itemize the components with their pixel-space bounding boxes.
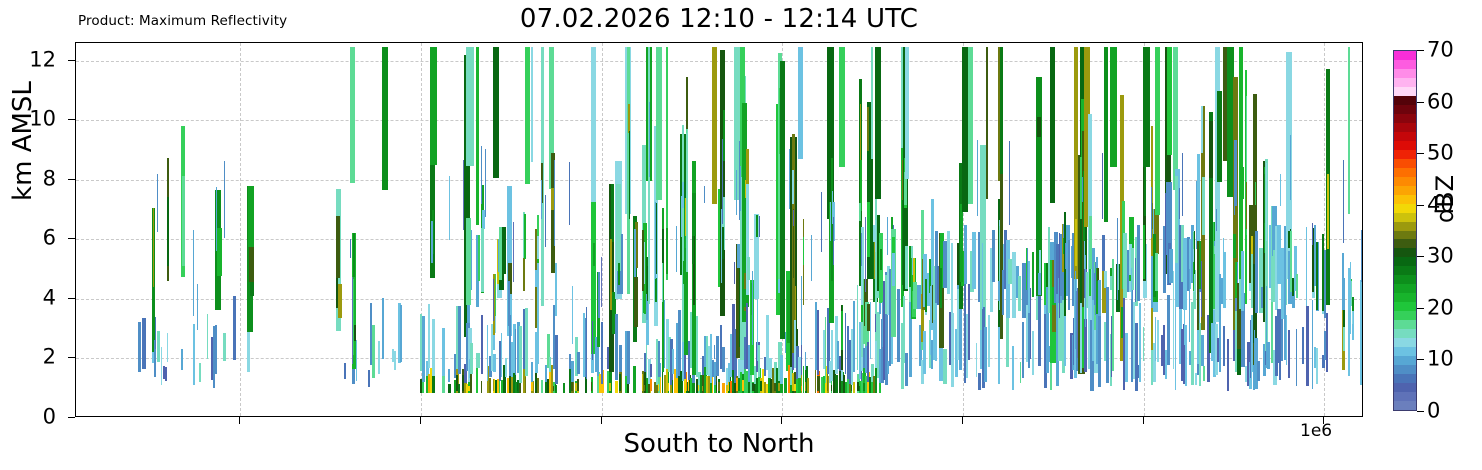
reflectivity-cell — [224, 161, 225, 238]
reflectivity-cell — [215, 325, 217, 374]
reflectivity-cell — [598, 272, 599, 317]
reflectivity-cell — [577, 352, 580, 374]
reflectivity-cell — [880, 249, 883, 270]
reflectivity-cell — [1175, 176, 1178, 264]
reflectivity-cell — [1102, 153, 1103, 219]
reflectivity-cell — [356, 340, 358, 381]
reflectivity-cell — [627, 331, 630, 384]
colorbar-segment — [1394, 158, 1416, 168]
x-tick-mark — [781, 417, 782, 424]
reflectivity-cell — [984, 327, 987, 382]
colorbar-segment — [1394, 185, 1416, 195]
colorbar-segment — [1394, 194, 1416, 204]
reflectivity-cell — [1143, 225, 1145, 279]
reflectivity-cell — [431, 221, 433, 263]
reflectivity-cell — [1082, 177, 1083, 202]
colorbar-segment — [1394, 400, 1416, 410]
reflectivity-cell — [1316, 348, 1318, 385]
reflectivity-cell — [835, 375, 838, 393]
reflectivity-cell — [1326, 313, 1328, 372]
reflectivity-cell — [1361, 230, 1362, 282]
reflectivity-cell — [577, 379, 579, 391]
reflectivity-cell — [1012, 346, 1014, 389]
reflectivity-cell — [718, 382, 720, 391]
reflectivity-cell — [811, 235, 812, 281]
reflectivity-cell — [616, 184, 621, 271]
reflectivity-cell — [197, 284, 198, 330]
x-tick-mark — [962, 417, 963, 424]
reflectivity-cell — [1009, 141, 1010, 226]
reflectivity-cell — [556, 263, 557, 294]
reflectivity-cell — [923, 331, 926, 374]
colorbar-segment — [1394, 77, 1416, 87]
reflectivity-cell — [1104, 47, 1107, 222]
reflectivity-cell — [609, 383, 610, 391]
reflectivity-cell — [138, 322, 141, 373]
y-tick-label: 4 — [43, 287, 56, 308]
reflectivity-cell — [1112, 259, 1114, 371]
reflectivity-cell — [505, 358, 507, 377]
colorbar-segment — [1394, 257, 1416, 267]
colorbar-tick-label: 70 — [1427, 40, 1454, 61]
reflectivity-cell — [563, 383, 564, 393]
colorbar-tick-mark — [1417, 411, 1424, 412]
reflectivity-cell — [951, 313, 953, 388]
reflectivity-cell — [618, 263, 621, 285]
reflectivity-cell — [992, 230, 995, 282]
reflectivity-cell — [634, 277, 637, 327]
reflectivity-cell — [736, 170, 737, 215]
reflectivity-cell — [1179, 188, 1180, 218]
reflectivity-cell — [805, 352, 807, 370]
reflectivity-cell — [519, 326, 522, 383]
reflectivity-cell — [1223, 238, 1224, 276]
reflectivity-cell — [615, 381, 618, 393]
reflectivity-cell — [1167, 295, 1171, 365]
reflectivity-cell — [1182, 153, 1183, 216]
reflectivity-cell — [633, 366, 635, 392]
x-tick-mark — [601, 417, 602, 424]
reflectivity-cell — [167, 333, 169, 362]
reflectivity-cell — [986, 47, 988, 198]
reflectivity-cell — [1110, 47, 1116, 166]
colorbar-segment — [1394, 95, 1416, 105]
reflectivity-cell — [870, 302, 871, 360]
reflectivity-cell — [1202, 177, 1205, 235]
reflectivity-cell — [531, 362, 533, 382]
reflectivity-cell — [756, 215, 758, 237]
reflectivity-cell — [382, 47, 389, 190]
reflectivity-cell — [216, 187, 217, 252]
reflectivity-cell — [493, 354, 496, 372]
colorbar-segment — [1394, 302, 1416, 312]
reflectivity-cell — [859, 203, 861, 220]
reflectivity-cell — [554, 160, 555, 246]
reflectivity-cell — [968, 47, 973, 203]
reflectivity-cell — [678, 310, 681, 376]
reflectivity-cell — [525, 308, 528, 375]
reflectivity-cell — [1068, 240, 1070, 310]
colorbar-segment — [1394, 284, 1416, 294]
reflectivity-cell — [1143, 47, 1150, 166]
reflectivity-cell — [448, 384, 451, 393]
reflectivity-cell — [780, 355, 783, 384]
reflectivity-cell — [470, 343, 473, 374]
reflectivity-cell — [629, 131, 630, 220]
reflectivity-cell — [350, 47, 355, 182]
reflectivity-cell — [1037, 117, 1041, 136]
colorbar-segment — [1394, 239, 1416, 249]
reflectivity-cell — [541, 180, 542, 220]
y-tick-mark — [68, 357, 75, 358]
colorbar-segment — [1394, 50, 1416, 60]
colorbar-segment — [1394, 248, 1416, 258]
reflectivity-cell — [805, 382, 806, 391]
reflectivity-cell — [1106, 287, 1109, 384]
reflectivity-cell — [1000, 47, 1004, 174]
reflectivity-cell — [817, 310, 820, 375]
colorbar-segment — [1394, 346, 1416, 356]
reflectivity-cell — [1104, 271, 1107, 288]
reflectivity-cell — [704, 186, 705, 203]
reflectivity-cell — [976, 343, 978, 377]
reflectivity-cell — [1131, 268, 1132, 299]
reflectivity-cell — [485, 149, 486, 217]
reflectivity-cell — [947, 231, 950, 293]
reflectivity-cell — [1343, 160, 1344, 243]
colorbar-segment — [1394, 373, 1416, 383]
reflectivity-cell — [1362, 276, 1363, 304]
reflectivity-cell — [686, 77, 687, 129]
reflectivity-cell — [968, 284, 971, 360]
y-tick-mark — [68, 179, 75, 180]
reflectivity-cell — [655, 202, 657, 279]
reflectivity-cell — [716, 382, 717, 392]
reflectivity-cell — [1246, 179, 1247, 230]
reflectivity-cell — [601, 322, 603, 384]
reflectivity-cell — [470, 372, 472, 393]
reflectivity-cell — [467, 304, 470, 326]
reflectivity-cell — [768, 358, 771, 378]
reflectivity-cell — [978, 373, 981, 390]
reflectivity-cell — [481, 228, 483, 292]
reflectivity-cell — [1201, 106, 1203, 154]
reflectivity-cell — [476, 47, 479, 224]
reflectivity-cell — [233, 296, 236, 360]
reflectivity-cell — [593, 243, 596, 267]
reflectivity-cell — [1241, 167, 1244, 198]
reflectivity-cell — [458, 306, 461, 374]
colorbar-tick-label: 30 — [1427, 246, 1454, 267]
reflectivity-cell — [702, 386, 703, 391]
reflectivity-cell — [1306, 306, 1309, 386]
reflectivity-cell — [1296, 274, 1298, 298]
reflectivity-cell — [1241, 251, 1244, 311]
reflectivity-cell — [400, 305, 402, 362]
reflectivity-cell — [879, 382, 881, 392]
reflectivity-cell — [1327, 174, 1329, 250]
reflectivity-cell — [432, 319, 435, 376]
reflectivity-cell — [1139, 303, 1141, 382]
reflectivity-cell — [481, 146, 482, 204]
reflectivity-cell — [1050, 47, 1055, 202]
reflectivity-cell — [821, 192, 822, 252]
colorbar-segment — [1394, 275, 1416, 285]
colorbar-tick-mark — [1417, 50, 1424, 51]
reflectivity-cell — [1195, 373, 1197, 385]
reflectivity-cell — [394, 351, 396, 371]
reflectivity-cell — [803, 237, 804, 265]
plot-area[interactable] — [75, 42, 1363, 417]
reflectivity-cell — [611, 184, 615, 242]
x-tick-mark — [420, 417, 421, 424]
colorbar-segment — [1394, 176, 1416, 186]
colorbar-tick-label: 20 — [1427, 297, 1454, 318]
reflectivity-cell — [1267, 342, 1270, 370]
y-tick-label: 8 — [43, 168, 56, 189]
colorbar-segment — [1394, 311, 1416, 321]
reflectivity-cell — [839, 47, 845, 167]
reflectivity-cell — [1032, 331, 1034, 375]
y-tick-label: 0 — [43, 407, 56, 428]
reflectivity-cell — [721, 227, 724, 259]
colorbar-segment — [1394, 149, 1416, 159]
reflectivity-cell — [458, 384, 460, 393]
reflectivity-cell — [831, 385, 832, 391]
reflectivity-cell — [887, 217, 888, 255]
reflectivity-cell — [649, 102, 650, 177]
reflectivity-cell — [545, 195, 546, 246]
reflectivity-cell — [481, 381, 483, 392]
reflectivity-cell — [223, 333, 226, 360]
reflectivity-cell — [571, 361, 574, 383]
reflectivity-cell — [746, 149, 749, 184]
reflectivity-cell — [827, 373, 828, 391]
reflectivity-cell — [1032, 252, 1034, 297]
reflectivity-cell — [1266, 163, 1267, 241]
reflectivity-cell — [428, 304, 430, 368]
colorbar-gradient — [1394, 51, 1416, 410]
reflectivity-cell — [1038, 273, 1041, 295]
reflectivity-cell — [476, 353, 479, 368]
reflectivity-cell — [466, 47, 473, 165]
reflectivity-cell — [628, 104, 629, 133]
reflectivity-cell — [1343, 327, 1345, 351]
reflectivity-cell — [1246, 96, 1247, 183]
reflectivity-cell — [519, 385, 520, 392]
reflectivity-cell — [525, 377, 527, 393]
colorbar-segment — [1394, 230, 1416, 240]
reflectivity-cell — [181, 349, 184, 370]
reflectivity-cell — [1239, 47, 1243, 279]
reflectivity-cell — [977, 140, 978, 216]
reflectivity-cell — [525, 47, 530, 184]
reflectivity-cell — [781, 145, 785, 229]
reflectivity-cell — [1191, 302, 1194, 385]
reflectivity-cell — [692, 193, 695, 236]
reflectivity-cell — [1255, 182, 1256, 205]
colorbar-tick-label: 60 — [1427, 91, 1454, 112]
colorbar-segment — [1394, 68, 1416, 78]
reflectivity-cell — [619, 374, 620, 391]
colorbar-segment — [1394, 59, 1416, 69]
reflectivity-cell — [655, 278, 657, 303]
reflectivity-cell — [841, 311, 843, 350]
reflectivity-cell — [905, 246, 908, 289]
reflectivity-cell — [853, 382, 856, 392]
reflectivity-cell — [352, 277, 353, 363]
reflectivity-cell — [722, 383, 725, 393]
reflectivity-cell — [1257, 361, 1260, 381]
reflectivity-cell — [712, 47, 717, 204]
y-tick-label: 2 — [43, 347, 56, 368]
reflectivity-cell — [734, 262, 735, 284]
reflectivity-cell — [798, 47, 802, 159]
colorbar-tick-mark — [1417, 205, 1424, 206]
colorbar[interactable] — [1393, 50, 1417, 411]
reflectivity-cell — [610, 239, 613, 310]
reflectivity-cell — [493, 379, 494, 392]
reflectivity-cell — [1135, 323, 1138, 391]
reflectivity-cell — [422, 316, 425, 382]
reflectivity-cell — [378, 341, 381, 374]
reflectivity-cell — [875, 47, 881, 199]
reflectivity-cell — [182, 176, 184, 266]
reflectivity-cell — [1209, 121, 1213, 178]
reflectivity-cell — [535, 377, 536, 391]
reflectivity-cell — [1255, 231, 1258, 313]
colorbar-segment — [1394, 140, 1416, 150]
reflectivity-cell — [964, 225, 967, 284]
reflectivity-cell — [905, 47, 909, 178]
reflectivity-cell — [167, 197, 169, 266]
colorbar-segment — [1394, 212, 1416, 222]
reflectivity-cell — [1198, 154, 1200, 226]
reflectivity-cell — [1234, 156, 1235, 214]
reflectivity-cell — [592, 321, 593, 361]
reflectivity-cell — [353, 233, 355, 277]
reflectivity-cell — [481, 315, 484, 374]
reflectivity-cell — [867, 342, 869, 382]
reflectivity-cell — [193, 324, 196, 385]
colorbar-tick-mark — [1417, 256, 1424, 257]
reflectivity-cell — [1137, 225, 1140, 302]
colorbar-segment — [1394, 203, 1416, 213]
colorbar-segment — [1394, 328, 1416, 338]
reflectivity-cell — [448, 369, 450, 381]
reflectivity-cell — [507, 204, 508, 237]
reflectivity-cell — [153, 208, 154, 287]
reflectivity-cell — [982, 243, 984, 309]
reflectivity-cell — [430, 47, 437, 165]
reflectivity-cell — [793, 210, 794, 227]
reflectivity-cell — [1217, 91, 1222, 182]
reflectivity-cell — [666, 228, 668, 274]
x-tick-mark — [1143, 417, 1144, 424]
reflectivity-cell — [1288, 330, 1290, 378]
reflectivity-cell — [1022, 322, 1024, 378]
reflectivity-cell — [784, 378, 787, 393]
colorbar-tick-label: 10 — [1427, 349, 1454, 370]
colorbar-tick-label: 40 — [1427, 194, 1454, 215]
reflectivity-cell — [1352, 297, 1354, 312]
reflectivity-cell — [193, 230, 194, 316]
reflectivity-cell — [531, 47, 533, 161]
reflectivity-cell — [759, 216, 760, 237]
reflectivity-cell — [368, 370, 370, 387]
reflectivity-data — [76, 43, 1362, 416]
reflectivity-cell — [493, 47, 499, 177]
reflectivity-cell — [569, 162, 570, 225]
y-tick-label: 6 — [43, 228, 56, 249]
reflectivity-cell — [1175, 296, 1177, 390]
reflectivity-cell — [943, 349, 946, 384]
reflectivity-cell — [1143, 327, 1145, 361]
reflectivity-cell — [586, 307, 587, 379]
reflectivity-cell — [696, 316, 698, 377]
reflectivity-cell — [758, 345, 760, 377]
reflectivity-cell — [867, 202, 870, 257]
reflectivity-cell — [1296, 329, 1298, 386]
colorbar-segment — [1394, 364, 1416, 374]
colorbar-tick-mark — [1417, 153, 1424, 154]
reflectivity-cell — [217, 228, 222, 276]
reflectivity-cell — [537, 236, 539, 259]
reflectivity-cell — [1203, 366, 1205, 380]
reflectivity-cell — [1348, 47, 1350, 214]
y-tick-mark — [68, 417, 75, 418]
reflectivity-cell — [1075, 219, 1077, 266]
y-tick-mark — [68, 60, 75, 61]
reflectivity-cell — [1362, 335, 1363, 376]
colorbar-segment — [1394, 355, 1416, 365]
reflectivity-cell — [499, 227, 502, 279]
reflectivity-cell — [972, 232, 976, 290]
reflectivity-cell — [1185, 325, 1187, 386]
colorbar-segment — [1394, 337, 1416, 347]
reflectivity-cell — [1280, 174, 1281, 207]
reflectivity-cell — [476, 366, 478, 393]
radar-figure: Product: Maximum Reflectivity 07.02.2026… — [0, 0, 1482, 470]
reflectivity-cell — [1155, 47, 1160, 215]
reflectivity-cell — [1157, 320, 1159, 362]
reflectivity-cell — [1167, 47, 1173, 155]
reflectivity-cell — [601, 257, 602, 307]
reflectivity-cell — [650, 379, 652, 392]
reflectivity-cell — [650, 364, 653, 376]
y-tick-mark — [68, 238, 75, 239]
colorbar-tick-label: 0 — [1427, 401, 1440, 422]
reflectivity-cell — [449, 176, 450, 240]
x-axis-label: South to North — [75, 429, 1363, 459]
reflectivity-cell — [555, 335, 558, 384]
reflectivity-cell — [853, 301, 855, 372]
colorbar-tick-mark — [1417, 359, 1424, 360]
reflectivity-cell — [861, 233, 862, 265]
reflectivity-cell — [353, 279, 355, 356]
colorbar-segment — [1394, 104, 1416, 114]
colorbar-segment — [1394, 167, 1416, 177]
reflectivity-cell — [493, 279, 494, 320]
reflectivity-cell — [1201, 335, 1204, 366]
colorbar-segment — [1394, 131, 1416, 141]
reflectivity-cell — [1201, 261, 1202, 316]
reflectivity-cell — [1227, 339, 1229, 390]
reflectivity-cell — [541, 380, 543, 392]
reflectivity-cell — [165, 367, 167, 381]
colorbar-segment — [1394, 113, 1416, 123]
reflectivity-cell — [513, 222, 514, 282]
